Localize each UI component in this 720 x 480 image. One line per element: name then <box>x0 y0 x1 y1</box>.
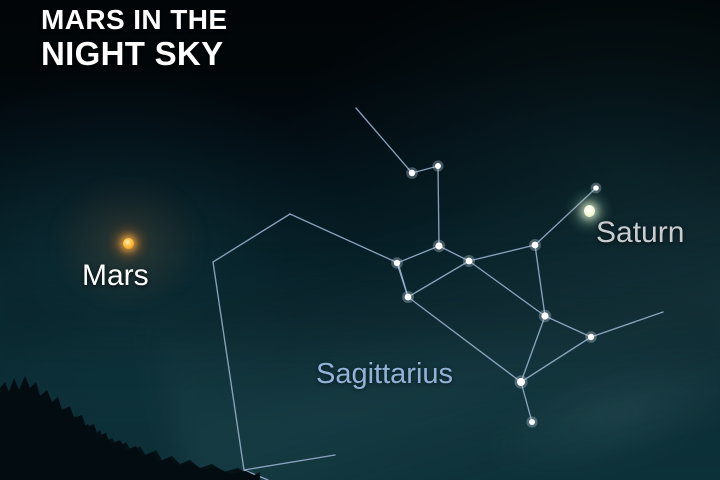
constellation-line <box>545 312 663 337</box>
page-title-line-1: MARS IN THE <box>41 6 227 34</box>
constellation-line <box>290 214 398 263</box>
star-dot[interactable] <box>593 185 599 191</box>
saturn-label: Saturn <box>596 216 684 250</box>
star-dot[interactable] <box>435 163 441 169</box>
mars-label: Mars <box>82 259 149 293</box>
star-dot[interactable] <box>541 312 548 319</box>
star-dot[interactable] <box>394 260 400 266</box>
mars-planet-dot[interactable] <box>123 238 134 249</box>
sagittarius-label: Sagittarius <box>316 358 453 391</box>
star-dot[interactable] <box>517 378 525 386</box>
constellation-line <box>469 261 545 316</box>
star-dot[interactable] <box>409 170 415 176</box>
page-title-line-2: NIGHT SKY <box>41 37 227 70</box>
constellation-line <box>244 470 268 480</box>
night-sky-scene: Mars Saturn Sagittarius MARS IN THE NIGH… <box>0 0 720 480</box>
saturn-planet-dot[interactable] <box>584 205 595 217</box>
star-dot[interactable] <box>532 242 539 249</box>
star-dot[interactable] <box>529 419 535 425</box>
star-dot[interactable] <box>405 294 412 301</box>
constellation-line <box>397 246 439 297</box>
star-dot[interactable] <box>588 334 594 340</box>
constellation-line <box>521 316 545 382</box>
page-title: MARS IN THE NIGHT SKY <box>41 6 227 70</box>
star-dot[interactable] <box>435 242 442 249</box>
constellation-line <box>439 188 596 261</box>
constellation-line <box>521 337 591 382</box>
constellation-line <box>535 245 545 316</box>
star-dot[interactable] <box>466 258 473 265</box>
constellation-line <box>356 108 439 246</box>
constellation-line <box>408 261 469 297</box>
constellation-line <box>213 214 335 470</box>
